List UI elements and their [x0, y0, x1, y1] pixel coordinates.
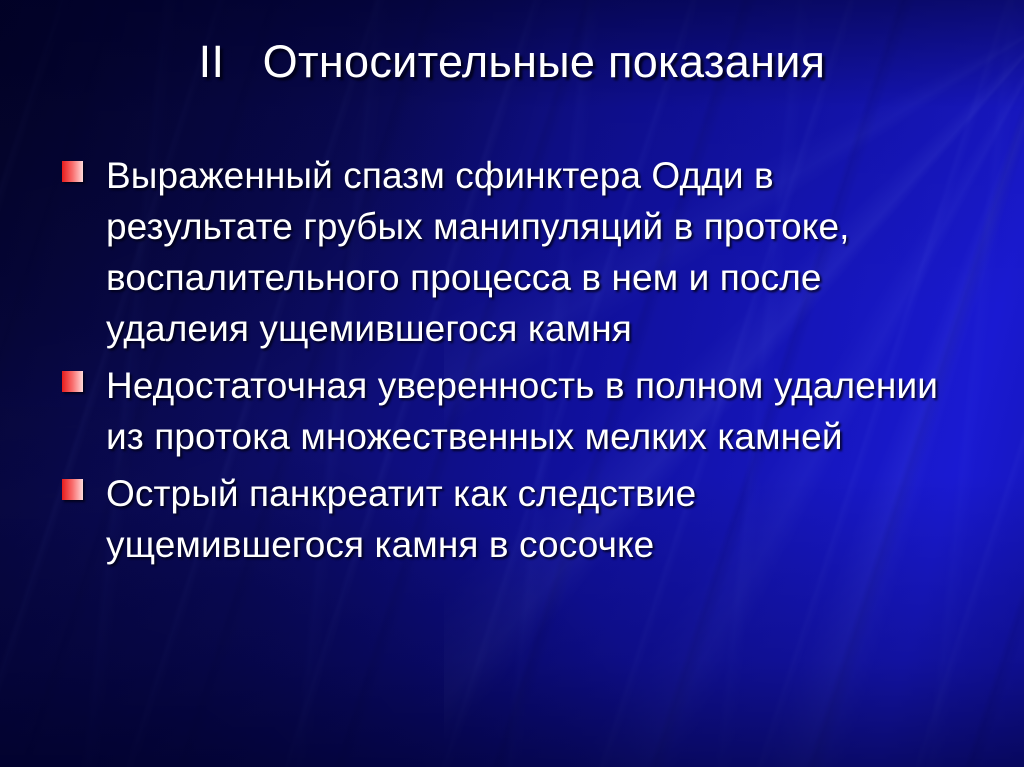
slide-title: II Относительные показания: [0, 36, 1024, 88]
red-square-bullet-icon: [62, 479, 83, 500]
list-item: Острый панкреатит как следствие ущемивше…: [60, 468, 960, 570]
bullet-text: Выраженный спазм сфинктера Одди в резуль…: [106, 155, 850, 349]
red-square-bullet-icon: [62, 371, 83, 392]
bullet-text: Недостаточная уверенность в полном удале…: [106, 365, 938, 457]
bullet-text: Острый панкреатит как следствие ущемивше…: [106, 473, 696, 565]
bullet-list: Выраженный спазм сфинктера Одди в резуль…: [60, 150, 960, 576]
list-item: Выраженный спазм сфинктера Одди в резуль…: [60, 150, 960, 354]
slide-content: II Относительные показания Выраженный сп…: [0, 0, 1024, 767]
presentation-slide: II Относительные показания Выраженный сп…: [0, 0, 1024, 767]
red-square-bullet-icon: [62, 161, 83, 182]
list-item: Недостаточная уверенность в полном удале…: [60, 360, 960, 462]
